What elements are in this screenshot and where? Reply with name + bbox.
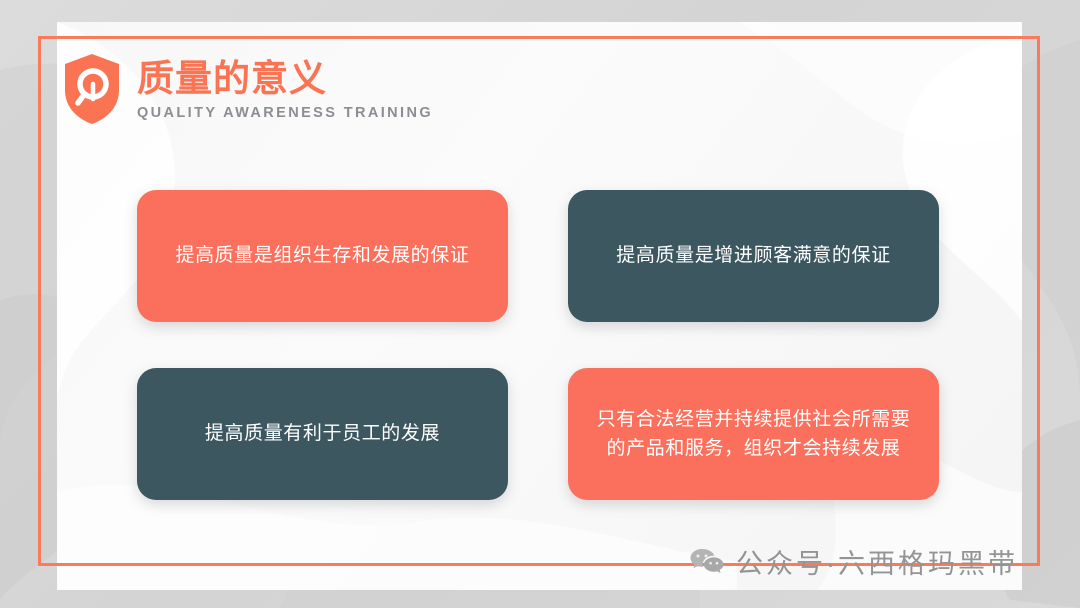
slide-root: 质量的意义 QUALITY AWARENESS TRAINING 提高质量是组织… <box>0 0 1080 608</box>
page-subtitle: QUALITY AWARENESS TRAINING <box>137 105 433 121</box>
content-card-1-text: 提高质量是组织生存和发展的保证 <box>175 241 469 270</box>
content-card-4[interactable]: 只有合法经营并持续提供社会所需要的产品和服务，组织才会持续发展 <box>568 368 939 500</box>
content-card-1[interactable]: 提高质量是组织生存和发展的保证 <box>137 190 508 322</box>
header-titles: 质量的意义 QUALITY AWARENESS TRAINING <box>137 57 433 122</box>
content-card-2-text: 提高质量是增进顾客满意的保证 <box>616 241 890 270</box>
content-card-3-text: 提高质量有利于员工的发展 <box>205 419 440 448</box>
shield-magnifier-icon <box>63 53 121 125</box>
content-card-2[interactable]: 提高质量是增进顾客满意的保证 <box>568 190 939 322</box>
content-card-4-text: 只有合法经营并持续提供社会所需要的产品和服务，组织才会持续发展 <box>590 405 917 464</box>
card-grid: 提高质量是组织生存和发展的保证 提高质量是增进顾客满意的保证 提高质量有利于员工… <box>137 190 939 500</box>
slide-header: 质量的意义 QUALITY AWARENESS TRAINING <box>63 53 433 125</box>
content-card-3[interactable]: 提高质量有利于员工的发展 <box>137 368 508 500</box>
page-title: 质量的意义 <box>137 59 433 99</box>
